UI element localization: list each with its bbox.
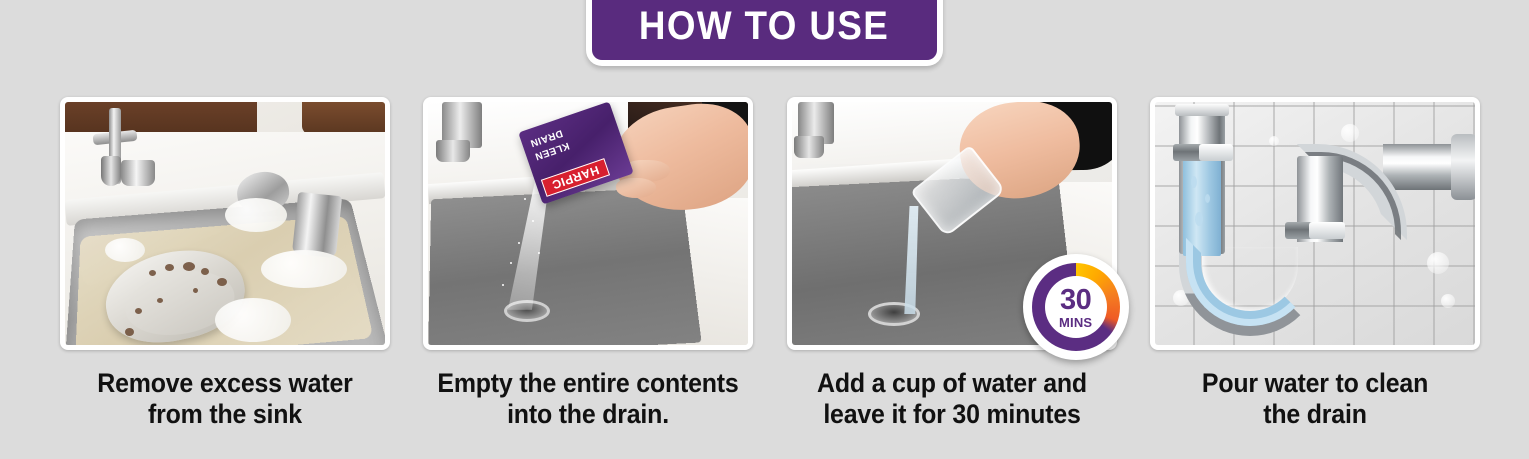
header-badge-container: HOW TO USE (0, 0, 1529, 66)
step-4-caption-line-1: Pour water to clean (1160, 368, 1470, 399)
grime-speck (157, 298, 163, 303)
step-3-photo-frame: 30 MINS (787, 97, 1117, 350)
bubble-shape (1427, 252, 1449, 274)
step-4-photo-frame (1150, 97, 1480, 350)
timer-badge: 30 MINS (1023, 254, 1129, 360)
grime-speck (193, 288, 198, 293)
grime-speck (183, 262, 195, 271)
timer-ring: 30 MINS (1032, 263, 1120, 351)
timer-value: 30 (1060, 286, 1091, 315)
faucet-neck-shape (436, 140, 470, 162)
foam-blob (261, 250, 347, 288)
dirty-sink-image (65, 102, 385, 345)
step-2-caption-line-2: into the drain. (433, 399, 743, 430)
grime-speck (135, 308, 142, 314)
grime-speck (149, 270, 156, 276)
step-1-caption-line-1: Remove excess water (70, 368, 380, 399)
step-4-caption: Pour water to clean the drain (1160, 368, 1470, 431)
faucet-base-shape (121, 160, 155, 186)
foam-blob (105, 238, 145, 262)
step-3-caption-line-2: leave it for 30 minutes (797, 399, 1107, 430)
bubble-shape (1441, 294, 1455, 308)
faucet-spout-shape (101, 156, 121, 186)
step-1-photo-frame (60, 97, 390, 350)
pouring-powder-image: DRAIN KLEEN HARPIC (428, 102, 748, 345)
foam-blob (225, 198, 287, 232)
grime-speck (217, 278, 227, 286)
pipe-collar-right-highlight (1309, 222, 1345, 239)
step-2-caption: Empty the entire contents into the drain… (433, 368, 743, 431)
step-4-caption-line-2: the drain (1160, 399, 1470, 430)
faucet-neck-shape (794, 136, 824, 158)
step-1-caption-line-2: from the sink (70, 399, 380, 430)
grime-speck (125, 328, 134, 336)
grime-speck (165, 264, 174, 271)
step-4: Pour water to clean the drain (1150, 97, 1480, 431)
step-2-photo-frame: DRAIN KLEEN HARPIC (423, 97, 753, 350)
how-to-use-label: HOW TO USE (639, 6, 889, 46)
step-1-caption: Remove excess water from the sink (70, 368, 380, 431)
water-splash (1191, 176, 1197, 188)
bubble-shape (1269, 136, 1279, 146)
bubble-shape (1341, 124, 1359, 142)
steel-cup-shape (292, 192, 342, 258)
how-to-use-badge: HOW TO USE (586, 0, 942, 66)
step-1: Remove excess water from the sink (60, 97, 390, 431)
water-splash (1195, 212, 1203, 226)
pipe-collar-left-highlight (1199, 144, 1233, 161)
grime-speck (201, 268, 209, 275)
pipe-top-lip-shape (1175, 104, 1229, 116)
step-3-caption: Add a cup of water and leave it for 30 m… (797, 368, 1107, 431)
step-2-caption-line-1: Empty the entire contents (433, 368, 743, 399)
step-3: 30 MINS Add a cup of water and leave it … (787, 97, 1117, 431)
steps-container: Remove excess water from the sink (60, 97, 1480, 431)
timer-unit-label: MINS (1059, 316, 1092, 329)
step-3-caption-line-1: Add a cup of water and (797, 368, 1107, 399)
step-2: DRAIN KLEEN HARPIC Empty the entire cont… (423, 97, 753, 431)
timer-center: 30 MINS (1045, 276, 1107, 338)
wall-flange-shape (1451, 134, 1475, 200)
drain-pipe-illustration (1155, 102, 1475, 345)
sink-basin-shape (428, 187, 702, 345)
water-splash (1205, 194, 1210, 203)
foam-blob (215, 298, 291, 342)
